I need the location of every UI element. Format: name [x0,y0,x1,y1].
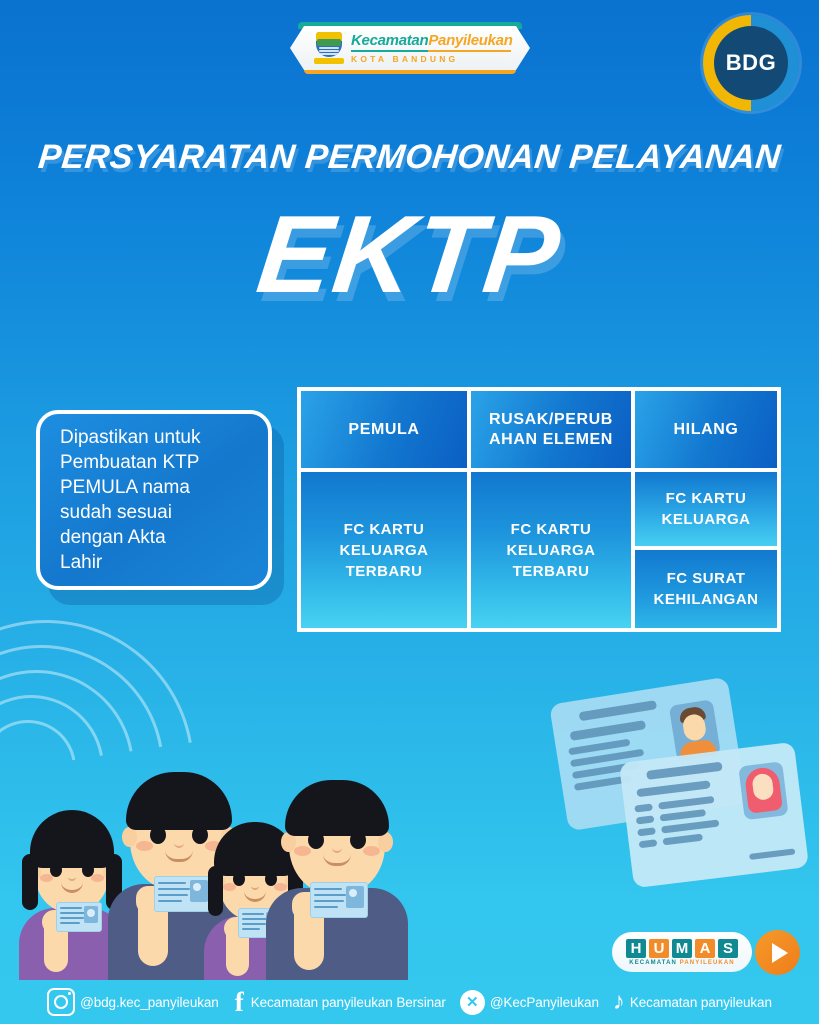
poster-canvas: KecamatanPanyileukan KOTA BANDUNG BDG PE… [0,0,819,1024]
table-header-cell: PEMULA [301,391,467,468]
social-label: Kecamatan panyileukan [630,995,772,1010]
table-body-cell: FC SURAT KEHILANGAN [635,550,777,628]
humas-letter: S [718,939,738,958]
logo-kota-bandung: KOTA BANDUNG [351,54,513,64]
logo-panyileukan-word: Panyileukan [428,32,512,49]
social-instagram[interactable]: @bdg.kec_panyileukan [47,988,219,1016]
play-button-icon[interactable] [755,930,800,975]
social-tiktok[interactable]: ♪ Kecamatan panyileukan [613,991,772,1013]
note-card-text: Dipastikan untuk Pembuatan KTP PEMULA na… [40,425,220,575]
requirements-table: PEMULA FC KARTU KELUARGA TERBARU RUSAK/P… [297,387,781,632]
id-card-female [619,742,809,889]
people-illustration [0,736,420,996]
facebook-icon: f [233,990,246,1014]
table-body-cell: FC KARTU KELUARGA TERBARU [301,472,467,628]
person-man-right [262,770,412,996]
id-cards-illustration [548,690,819,895]
table-body-cell: FC KARTU KELUARGA TERBARU [471,472,631,628]
instagram-icon [47,988,75,1016]
social-x-twitter[interactable]: ✕ @KecPanyileukan [460,990,599,1015]
table-body-cell: FC KARTU KELUARGA [635,472,777,546]
bandung-city-emblem-icon [314,32,344,64]
note-card: Dipastikan untuk Pembuatan KTP PEMULA na… [36,410,272,590]
held-id-card [56,902,102,932]
poster-subtitle: PERSYARATAN PERMOHONAN PELAYANAN [0,138,819,177]
bdg-badge-label: BDG [726,50,776,76]
humas-subtitle-panyileukan: PANYILEUKAN [680,960,735,966]
humas-logo: H U M A S KECAMATAN PANYILEUKAN [612,932,752,972]
social-label: @KecPanyileukan [490,995,599,1010]
social-label: @bdg.kec_panyileukan [80,995,219,1010]
x-twitter-icon: ✕ [460,990,485,1015]
kecamatan-logo: KecamatanPanyileukan KOTA BANDUNG [290,22,530,74]
bdg-badge: BDG [703,15,799,111]
humas-letter: H [626,939,646,958]
table-column-rusak: RUSAK/PERUB AHAN ELEMEN FC KARTU KELUARG… [471,391,631,628]
table-header-cell: HILANG [635,391,777,468]
social-facebook[interactable]: f Kecamatan panyileukan Bersinar [233,990,446,1014]
table-header-cell: RUSAK/PERUB AHAN ELEMEN [471,391,631,468]
humas-letter: M [672,939,692,958]
humas-letters: H U M A S [626,939,738,958]
humas-subtitle: KECAMATAN PANYILEUKAN [629,960,734,966]
table-column-hilang: HILANG FC KARTU KELUARGA FC SURAT KEHILA… [635,391,777,628]
logo-kecamatan-word: Kecamatan [351,32,428,49]
social-footer: @bdg.kec_panyileukan f Kecamatan panyile… [0,980,819,1024]
social-label: Kecamatan panyileukan Bersinar [251,995,446,1010]
humas-letter: U [649,939,669,958]
held-id-card [310,882,368,918]
humas-letter: A [695,939,715,958]
table-column-pemula: PEMULA FC KARTU KELUARGA TERBARU [301,391,467,628]
humas-subtitle-kecamatan: KECAMATAN [629,960,679,966]
logo-pill-body: KecamatanPanyileukan KOTA BANDUNG [290,26,530,70]
logo-underline [351,50,511,52]
poster-title: EKTP [0,200,819,310]
logo-text-block: KecamatanPanyileukan KOTA BANDUNG [351,33,513,64]
tiktok-icon: ♪ [613,991,625,1013]
